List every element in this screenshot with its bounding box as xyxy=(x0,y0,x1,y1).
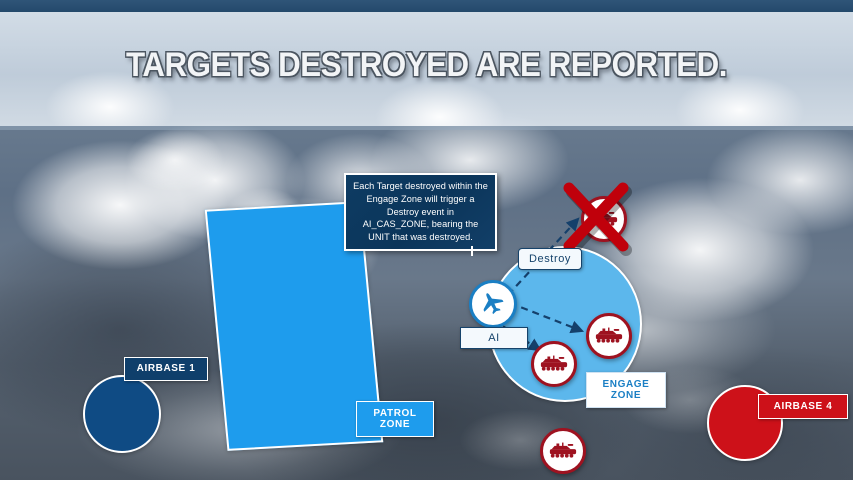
airbase-1-label[interactable]: AIRBASE 1 xyxy=(124,357,208,381)
page-title: TARGETS DESTROYED ARE REPORTED. xyxy=(34,46,819,85)
callout-text: Each Target destroyed within the Engage … xyxy=(353,180,488,243)
tank-icon xyxy=(539,353,569,375)
engage-zone-label-line2: ZONE xyxy=(611,390,641,401)
target-node-right[interactable] xyxy=(586,313,632,359)
patrol-zone-label-line2: ZONE xyxy=(380,419,410,430)
tank-icon xyxy=(594,325,624,347)
top-accent-strip xyxy=(0,0,853,12)
ai-label[interactable]: AI xyxy=(460,327,528,349)
target-node-destroyed[interactable] xyxy=(581,196,627,242)
band-cloud-center xyxy=(330,82,550,126)
tank-icon xyxy=(548,440,578,462)
callout-box: Each Target destroyed within the Engage … xyxy=(344,173,497,251)
patrol-zone-label[interactable]: PATROL ZONE xyxy=(356,401,434,437)
target-node-lower[interactable] xyxy=(531,341,577,387)
airbase-4-label[interactable]: AIRBASE 4 xyxy=(758,394,848,419)
patrol-zone-label-line1: PATROL xyxy=(373,408,416,419)
callout-stem xyxy=(471,246,473,256)
destroy-label[interactable]: Destroy xyxy=(518,248,582,270)
tank-icon xyxy=(589,208,619,230)
fighter-jet-icon xyxy=(479,290,507,318)
airbase-1-shape xyxy=(83,375,161,453)
slide-canvas: TARGETS DESTROYED ARE REPORTED. xyxy=(0,0,853,480)
ai-unit-node[interactable] xyxy=(469,280,517,328)
target-node-outside[interactable] xyxy=(540,428,586,474)
engage-zone-label[interactable]: ENGAGE ZONE xyxy=(586,372,666,408)
engage-zone-label-line1: ENGAGE xyxy=(603,379,650,390)
title-band-underline xyxy=(0,126,853,130)
